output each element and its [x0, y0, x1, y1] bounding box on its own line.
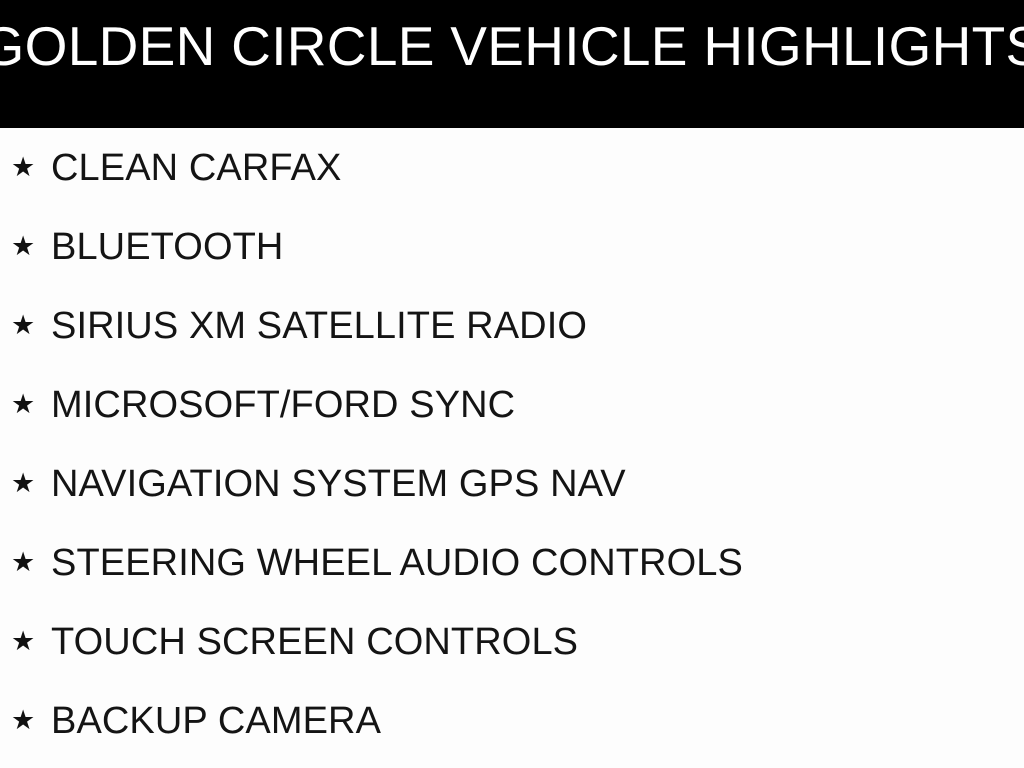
list-item: ★ BLUETOOTH [0, 207, 1024, 286]
vehicle-highlights-list: ★ CLEAN CARFAX ★ BLUETOOTH ★ SIRIUS XM S… [0, 128, 1024, 760]
highlight-label: CLEAN CARFAX [51, 149, 1024, 187]
star-icon: ★ [11, 233, 41, 260]
star-icon: ★ [11, 707, 41, 734]
star-icon: ★ [11, 312, 41, 339]
vehicle-highlights-page: GOLDEN CIRCLE VEHICLE HIGHLIGHTS ★ CLEAN… [0, 0, 1024, 768]
highlight-label: BACKUP CAMERA [51, 702, 1024, 740]
list-item: ★ NAVIGATION SYSTEM GPS NAV [0, 444, 1024, 523]
list-item: ★ STEERING WHEEL AUDIO CONTROLS [0, 523, 1024, 602]
highlight-label: MICROSOFT/FORD SYNC [51, 386, 1024, 424]
list-item: ★ CLEAN CARFAX [0, 128, 1024, 207]
star-icon: ★ [11, 391, 41, 418]
highlight-label: STEERING WHEEL AUDIO CONTROLS [51, 544, 1024, 582]
list-item: ★ SIRIUS XM SATELLITE RADIO [0, 286, 1024, 365]
highlight-label: NAVIGATION SYSTEM GPS NAV [51, 465, 1024, 503]
list-item: ★ TOUCH SCREEN CONTROLS [0, 602, 1024, 681]
list-item: ★ MICROSOFT/FORD SYNC [0, 365, 1024, 444]
star-icon: ★ [11, 470, 41, 497]
page-title: GOLDEN CIRCLE VEHICLE HIGHLIGHTS [0, 19, 1024, 74]
highlight-label: BLUETOOTH [51, 228, 1024, 266]
highlight-label: SIRIUS XM SATELLITE RADIO [51, 307, 1024, 345]
header-banner: GOLDEN CIRCLE VEHICLE HIGHLIGHTS [0, 0, 1024, 128]
highlight-label: TOUCH SCREEN CONTROLS [51, 623, 1024, 661]
star-icon: ★ [11, 549, 41, 576]
list-item: ★ BACKUP CAMERA [0, 681, 1024, 760]
star-icon: ★ [11, 154, 41, 181]
star-icon: ★ [11, 628, 41, 655]
